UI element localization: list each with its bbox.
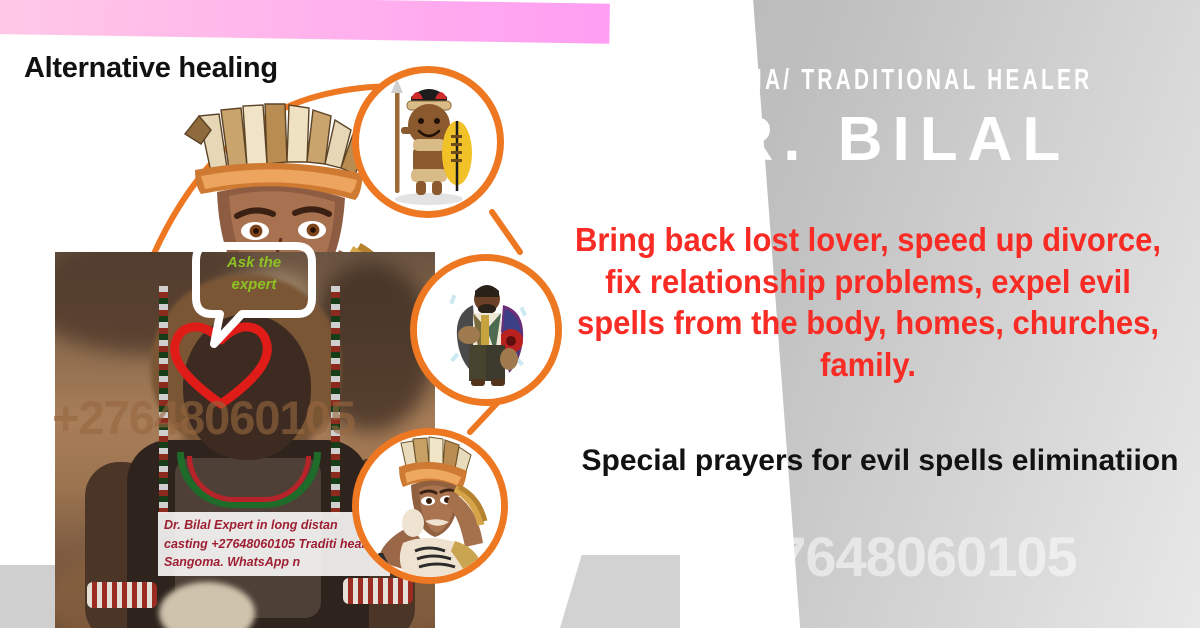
crouching-dancer-icon xyxy=(359,435,501,577)
zulu-warrior-icon xyxy=(359,73,499,213)
bubble-zulu-warrior[interactable] xyxy=(352,66,504,218)
bubble-crouching-dancer[interactable] xyxy=(352,428,508,584)
panel-kicker: SANGOMA/ TRADITIONAL HEALER xyxy=(647,64,1096,97)
panel-subheading: Special prayers for evil spells eliminat… xyxy=(580,441,1180,480)
panel-phone-watermark: +27648060105 xyxy=(600,524,1190,589)
speech-bubble-label: Ask the expert xyxy=(205,252,303,296)
photo-armband-left xyxy=(87,582,157,608)
cloaked-healer-icon xyxy=(417,261,557,401)
panel-healer-name: DR. BILAL xyxy=(560,107,1184,172)
photo-armband-right xyxy=(343,578,413,604)
bubble-cloaked-healer[interactable] xyxy=(410,254,562,406)
panel-services: Bring back lost lover, speed up divorce,… xyxy=(563,219,1174,385)
poster-canvas: Alternative healing xyxy=(0,0,1200,628)
photo-phone-watermark: +27648060105 xyxy=(52,390,442,445)
